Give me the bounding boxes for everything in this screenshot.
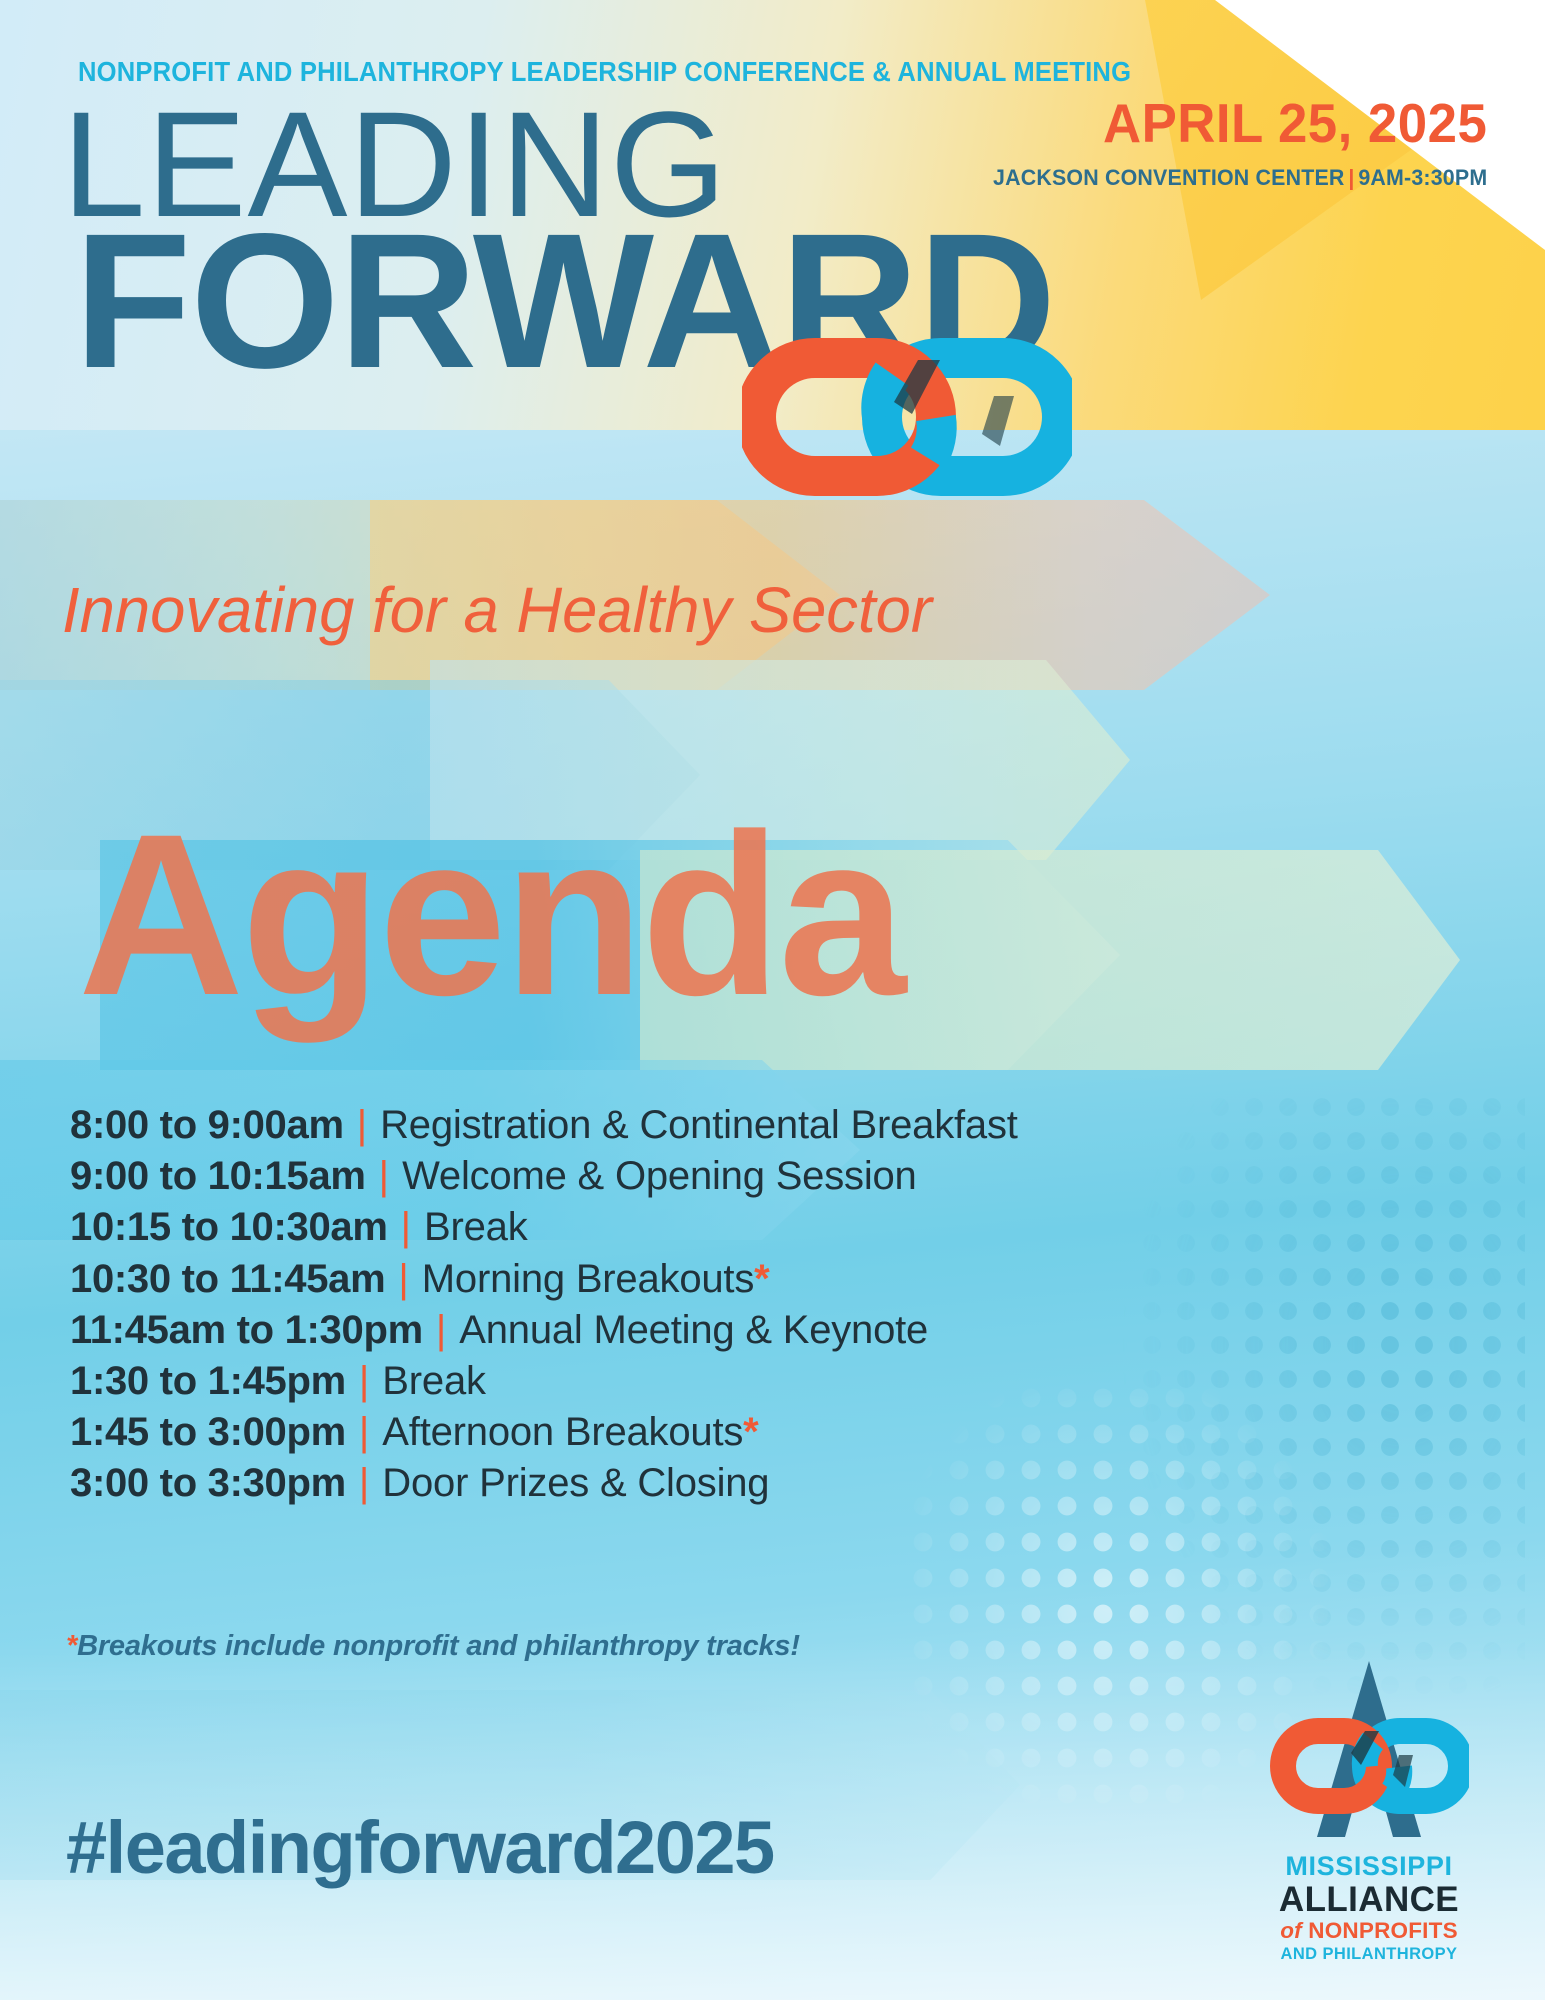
agenda-row: 3:00 to 3:30pm | Door Prizes & Closing: [70, 1458, 1270, 1509]
agenda-time: 9:00 to 10:15am: [70, 1151, 366, 1202]
agenda-schedule-list: 8:00 to 9:00am | Registration & Continen…: [70, 1100, 1270, 1510]
agenda-separator: |: [346, 1458, 382, 1509]
agenda-description: Annual Meeting & Keynote: [459, 1305, 928, 1356]
agenda-description: Break: [382, 1356, 486, 1407]
event-hours: 9AM-3:30PM: [1358, 165, 1487, 190]
agenda-separator: |: [346, 1407, 382, 1458]
organization-logo: MISSISSIPPI ALLIANCE of NONPROFITS AND P…: [1239, 1655, 1499, 1962]
venue-separator: |: [1344, 165, 1358, 190]
agenda-row: 1:30 to 1:45pm | Break: [70, 1356, 1270, 1407]
event-hashtag: #leadingforward2025: [66, 1805, 774, 1890]
agenda-separator: |: [366, 1151, 402, 1202]
alliance-a-chain-icon: [1269, 1655, 1469, 1845]
agenda-row: 10:15 to 10:30am | Break: [70, 1202, 1270, 1253]
event-tagline: Innovating for a Healthy Sector: [62, 573, 932, 647]
brand-line-mississippi: MISSISSIPPI: [1239, 1853, 1499, 1880]
agenda-time: 10:15 to 10:30am: [70, 1202, 388, 1253]
brand-nonprofits-word: NONPROFITS: [1308, 1918, 1458, 1943]
brand-line-philanthropy: AND PHILANTHROPY: [1239, 1946, 1499, 1963]
brand-of-word: of: [1280, 1918, 1302, 1943]
agenda-description: Afternoon Breakouts: [382, 1407, 743, 1458]
agenda-time: 11:45am to 1:30pm: [70, 1305, 423, 1356]
agenda-row: 8:00 to 9:00am | Registration & Continen…: [70, 1100, 1270, 1151]
agenda-time: 8:00 to 9:00am: [70, 1100, 344, 1151]
agenda-description: Door Prizes & Closing: [382, 1458, 769, 1509]
agenda-separator: |: [423, 1305, 459, 1356]
agenda-separator: |: [388, 1202, 424, 1253]
chain-link-logo-hero: [742, 336, 1072, 511]
organization-name: MISSISSIPPI ALLIANCE of NONPROFITS AND P…: [1239, 1853, 1499, 1962]
agenda-heading: Agenda: [78, 800, 903, 1030]
agenda-time: 3:00 to 3:30pm: [70, 1458, 346, 1509]
agenda-time: 10:30 to 11:45am: [70, 1254, 385, 1305]
agenda-separator: |: [344, 1100, 380, 1151]
agenda-star: *: [743, 1407, 759, 1458]
agenda-row: 11:45am to 1:30pm | Annual Meeting & Key…: [70, 1305, 1270, 1356]
agenda-separator: |: [385, 1254, 421, 1305]
agenda-description: Welcome & Opening Session: [402, 1151, 917, 1202]
agenda-description: Break: [424, 1202, 528, 1253]
footnote-star: *: [66, 1630, 77, 1662]
agenda-row: 1:45 to 3:00pm | Afternoon Breakouts *: [70, 1407, 1270, 1458]
conference-flyer: NONPROFIT AND PHILANTHROPY LEADERSHIP CO…: [0, 0, 1545, 2000]
brand-line-nonprofits: of NONPROFITS: [1239, 1920, 1499, 1943]
agenda-description: Registration & Continental Breakfast: [380, 1100, 1018, 1151]
brand-line-alliance: ALLIANCE: [1239, 1882, 1499, 1917]
agenda-row: 10:30 to 11:45am | Morning Breakouts *: [70, 1254, 1270, 1305]
agenda-separator: |: [346, 1356, 382, 1407]
footnote-text: Breakouts include nonprofit and philanth…: [77, 1630, 800, 1662]
agenda-row: 9:00 to 10:15am | Welcome & Opening Sess…: [70, 1151, 1270, 1202]
agenda-footnote: *Breakouts include nonprofit and philant…: [66, 1630, 800, 1663]
agenda-time: 1:30 to 1:45pm: [70, 1356, 346, 1407]
agenda-time: 1:45 to 3:00pm: [70, 1407, 346, 1458]
main-title: LEADING FORWARD: [62, 95, 1162, 233]
agenda-description: Morning Breakouts: [422, 1254, 754, 1305]
agenda-star: *: [754, 1254, 770, 1305]
